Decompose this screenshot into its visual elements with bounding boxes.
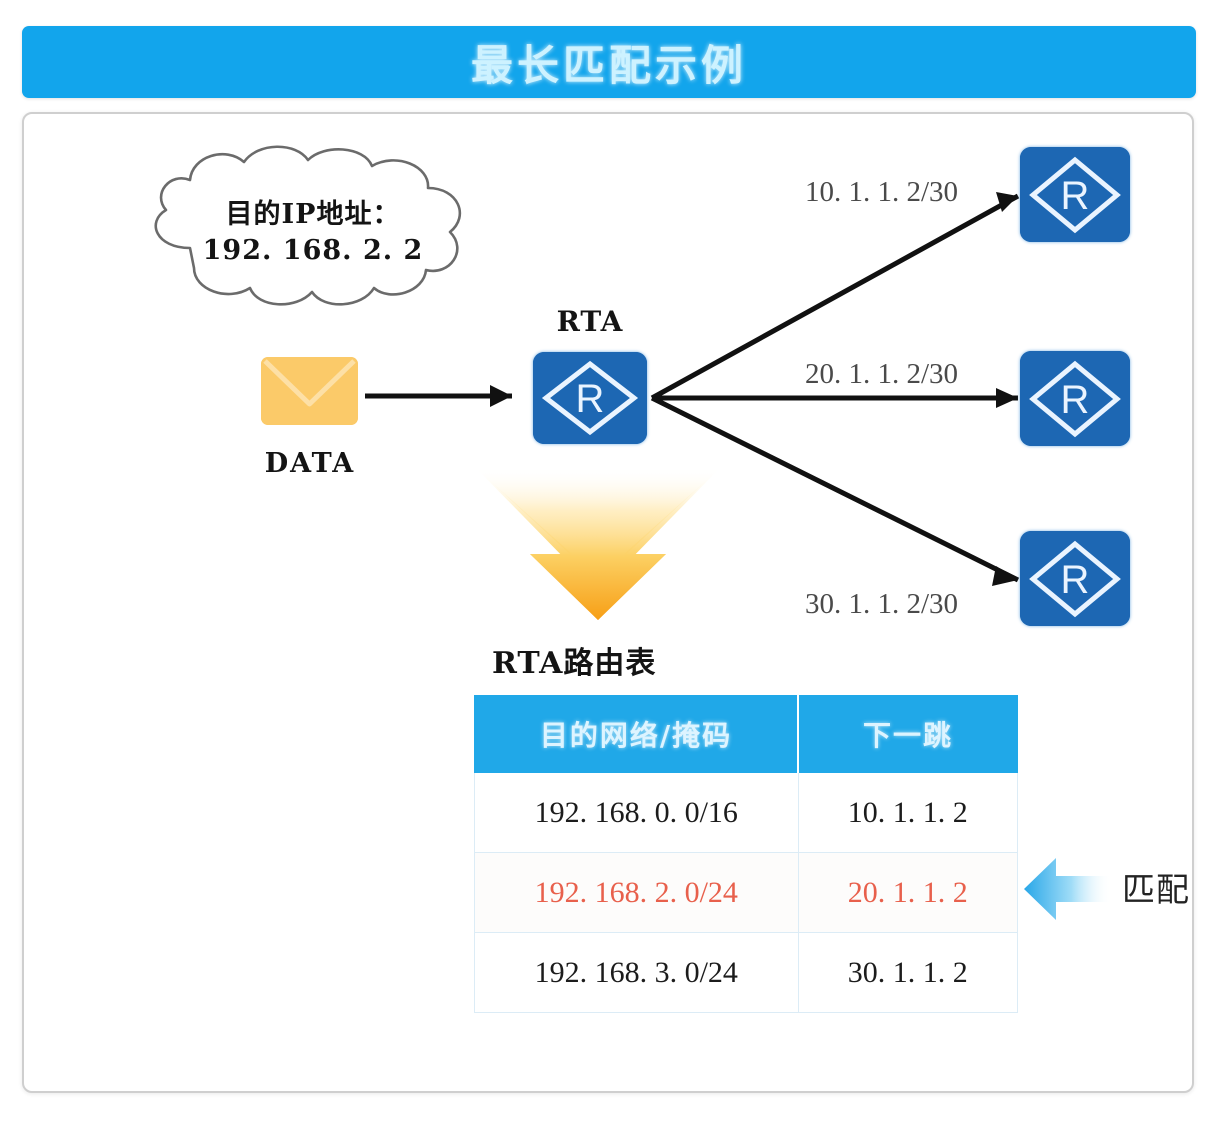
router-icon: R xyxy=(533,352,647,444)
router-glyph: R xyxy=(1061,378,1090,422)
data-packet-label: DATA xyxy=(245,448,375,479)
router-rta-label: RTA xyxy=(505,305,675,338)
link-label-2: 20. 1. 1. 2/30 xyxy=(805,358,958,391)
table-row[interactable]: 192. 168. 3. 0/24 30. 1. 1. 2 xyxy=(475,933,1018,1013)
cell-network: 192. 168. 2. 0/24 xyxy=(475,853,799,933)
router-icon: R xyxy=(1020,147,1130,242)
cell-network: 192. 168. 0. 0/16 xyxy=(475,773,799,853)
router-icon: R xyxy=(1020,531,1130,626)
router-glyph: R xyxy=(1061,558,1090,602)
cloud-text-line-1: 目的IP地址： xyxy=(128,192,498,231)
data-packet-icon xyxy=(261,357,358,425)
router-icon: R xyxy=(1020,351,1130,446)
arrow-left-icon xyxy=(1022,856,1110,922)
routing-table: 目的网络/掩码 下一跳 192. 168. 0. 0/16 10. 1. 1. … xyxy=(474,695,1018,1013)
envelope-icon xyxy=(261,357,358,425)
router-next-hop-1[interactable]: R xyxy=(1020,147,1130,242)
page-title: 最长匹配示例 xyxy=(471,32,747,93)
cloud-text-line-2: 192. 168. 2. 2 xyxy=(128,235,498,266)
match-annotation-label: 匹配 xyxy=(1122,863,1190,911)
cell-network: 192. 168. 3. 0/24 xyxy=(475,933,799,1013)
arrow-down-icon xyxy=(468,462,728,627)
table-row-highlighted[interactable]: 192. 168. 2. 0/24 20. 1. 1. 2 xyxy=(475,853,1018,933)
link-label-1: 10. 1. 1. 2/30 xyxy=(805,176,958,209)
column-header-network: 目的网络/掩码 xyxy=(475,696,799,773)
table-header-row: 目的网络/掩码 下一跳 xyxy=(475,696,1018,773)
table-row[interactable]: 192. 168. 0. 0/16 10. 1. 1. 2 xyxy=(475,773,1018,853)
routing-table-title: RTA路由表 xyxy=(492,638,656,682)
column-header-next-hop: 下一跳 xyxy=(798,696,1018,773)
title-banner: 最长匹配示例 xyxy=(22,26,1196,98)
router-next-hop-3[interactable]: R xyxy=(1020,531,1130,626)
router-next-hop-2[interactable]: R xyxy=(1020,351,1130,446)
cell-next-hop: 10. 1. 1. 2 xyxy=(798,773,1018,853)
router-rta[interactable]: R xyxy=(533,352,647,444)
link-label-3: 30. 1. 1. 2/30 xyxy=(805,588,958,621)
router-glyph: R xyxy=(576,377,605,421)
cell-next-hop: 20. 1. 1. 2 xyxy=(798,853,1018,933)
destination-cloud: 目的IP地址： 192. 168. 2. 2 xyxy=(128,140,498,315)
router-glyph: R xyxy=(1061,174,1090,218)
cell-next-hop: 30. 1. 1. 2 xyxy=(798,933,1018,1013)
